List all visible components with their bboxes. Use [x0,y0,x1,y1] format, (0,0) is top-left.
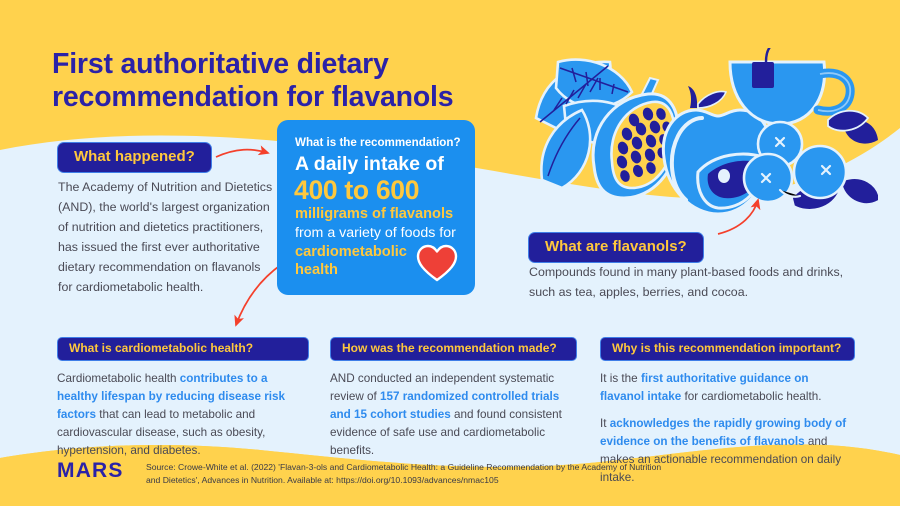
teacup-icon [730,48,850,124]
heart-icon [415,243,459,283]
recommendation-card: What is the recommendation? A daily inta… [277,120,475,295]
food-illustration [528,48,878,238]
citation-text: Source: Crowe-White et al. (2022) 'Flava… [146,461,666,488]
pill-what-are-flavanols: What are flavanols? [528,232,704,263]
mars-logo: MARS [57,459,124,483]
card-line-4: from a variety of foods for [295,225,473,242]
panel-cardiometabolic-health: What is cardiometabolic health? Cardiome… [57,337,309,460]
card-amount: 400 to 600 [294,176,474,205]
panel-1-pill: What is cardiometabolic health? [57,337,309,361]
card-line-3: milligrams of flavanols [295,206,475,223]
panel-how-recommendation-made: How was the recommendation made? AND con… [330,337,577,460]
infographic-root: First authoritative dietary recommendati… [0,0,900,506]
what-are-flavanols-body: Compounds found in many plant-based food… [529,262,849,302]
card-line-1: A daily intake of [295,153,470,175]
card-kicker: What is the recommendation? [295,136,465,150]
pill-what-happened: What happened? [57,142,212,173]
what-happened-body: The Academy of Nutrition and Dietetics (… [58,177,273,298]
panel-2-pill: How was the recommendation made? [330,337,577,361]
panel-3-pill: Why is this recommendation important? [600,337,855,361]
page-title: First authoritative dietary recommendati… [52,48,522,115]
panel-1-body: Cardiometabolic health contributes to a … [57,370,309,461]
panel-2-body: AND conducted an independent systematic … [330,370,577,461]
card-line-5: cardiometabolic health [295,244,425,279]
